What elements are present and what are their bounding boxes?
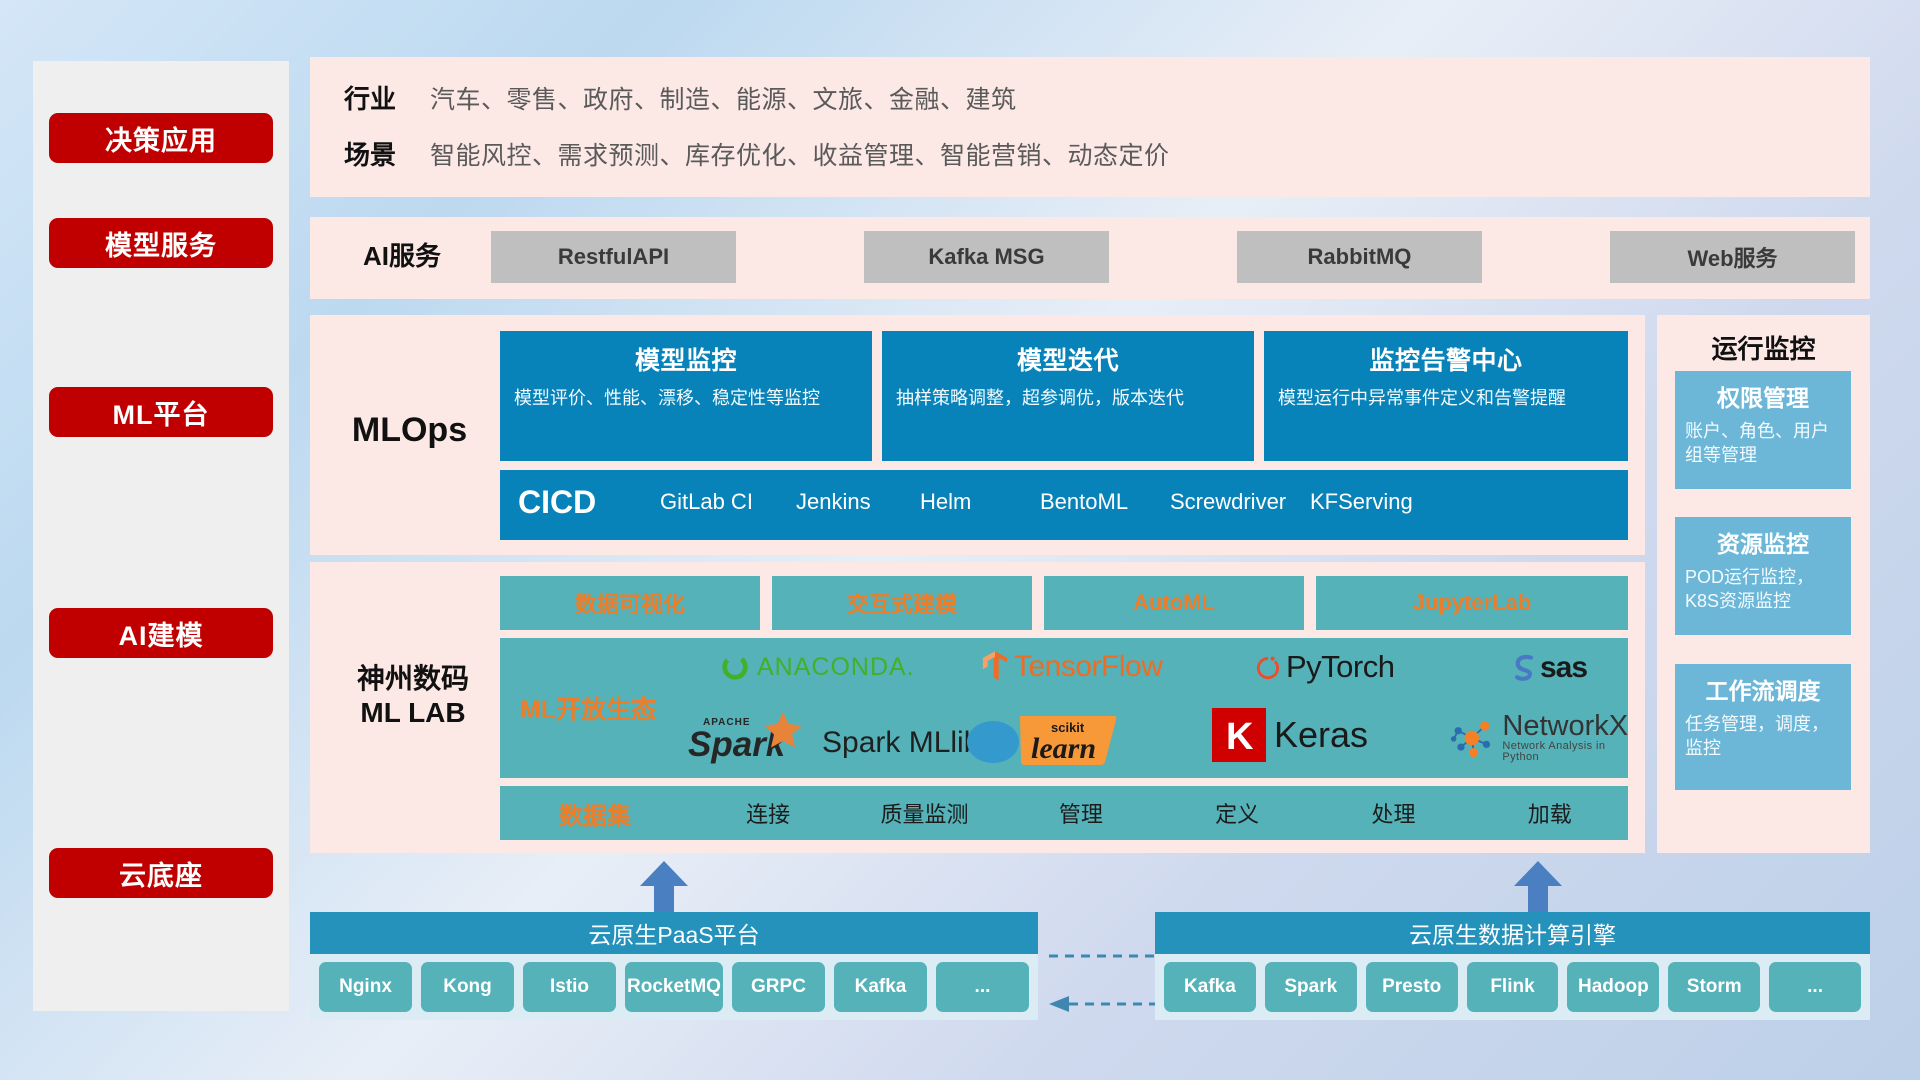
mlops-card-model-iteration[interactable]: 模型迭代 抽样策略调整，超参调优，版本迭代 — [882, 331, 1254, 461]
service-label: RestfulAPI — [558, 244, 669, 270]
industry-row: 行业 汽车、零售、政府、制造、能源、文旅、金融、建筑 — [310, 79, 1870, 116]
card-title: 模型监控 — [514, 341, 858, 377]
cicd-title: CICD — [518, 484, 596, 521]
cloud-paas-title: 云原生PaaS平台 — [310, 912, 1038, 954]
chip-kong[interactable]: Kong — [421, 962, 514, 1012]
svg-text:K: K — [1226, 716, 1254, 758]
arrow-up-paas-icon — [639, 861, 689, 913]
ops-card-resource-monitoring[interactable]: 资源监控 POD运行监控，K8S资源监控 — [1675, 517, 1851, 635]
tool-label: AutoML — [1133, 590, 1215, 616]
chip-grpc[interactable]: GRPC — [732, 962, 825, 1012]
service-label: RabbitMQ — [1308, 244, 1412, 270]
dataset-item-load[interactable]: 加载 — [1472, 797, 1628, 829]
logo-spark-mllib: APACHE Spark Spark MLlib — [686, 708, 980, 764]
logo-anaconda: ANACONDA. — [720, 652, 915, 682]
card-desc: 抽样策略调整，超参调优，版本迭代 — [896, 386, 1240, 412]
chip-istio[interactable]: Istio — [523, 962, 616, 1012]
ml-lab-label-en: ML LAB — [360, 697, 465, 728]
tool-label: 数据可视化 — [575, 587, 685, 619]
tool-box-data-visualization[interactable]: 数据可视化 — [500, 576, 760, 630]
ops-card-permission-management[interactable]: 权限管理 账户、角色、用户组等管理 — [1675, 371, 1851, 489]
card-desc: 任务管理，调度，监控 — [1685, 712, 1841, 761]
sidebar-item-label: ML平台 — [113, 393, 210, 432]
ai-service-label: AI服务 — [332, 241, 472, 273]
chip-nginx[interactable]: Nginx — [319, 962, 412, 1012]
cicd-bar: CICD GitLab CI Jenkins Helm BentoML Scre… — [500, 470, 1628, 540]
logo-text: ANACONDA. — [757, 653, 915, 682]
tool-box-jupyterlab[interactable]: JupyterLab — [1316, 576, 1628, 630]
tool-label: 交互式建模 — [847, 587, 957, 619]
scenario-key: 场景 — [310, 135, 430, 172]
sidebar-item-cloud-base[interactable]: 云底座 — [49, 848, 273, 898]
logo-text: PyTorch — [1286, 649, 1394, 685]
chip-kafka[interactable]: Kafka — [834, 962, 927, 1012]
ml-lab-panel: 神州数码 ML LAB 数据可视化 交互式建模 AutoML JupyterLa… — [310, 562, 1645, 853]
tool-label: JupyterLab — [1413, 590, 1532, 616]
service-label: Web服务 — [1687, 241, 1777, 273]
card-desc: 账户、角色、用户组等管理 — [1685, 419, 1841, 468]
tool-box-automl[interactable]: AutoML — [1044, 576, 1304, 630]
logo-sas: sas — [1510, 651, 1587, 685]
scikit-learn-icon: scikit learn — [965, 710, 1125, 768]
service-label: Kafka MSG — [928, 244, 1044, 270]
logo-networkx: NetworkX Network Analysis in Python — [1450, 712, 1633, 763]
sidebar-item-ai-modeling[interactable]: AI建模 — [49, 608, 273, 658]
cloud-compute-title: 云原生数据计算引擎 — [1155, 912, 1870, 954]
service-box-restfulapi[interactable]: RestfulAPI — [491, 231, 736, 283]
sidebar-item-label: AI建模 — [119, 614, 204, 653]
networkx-tagline: Network Analysis in Python — [1502, 741, 1632, 763]
tensorflow-icon — [980, 650, 1010, 684]
cloud-paas-chips: Nginx Kong Istio RocketMQ GRPC Kafka ... — [310, 954, 1038, 1020]
logo-pytorch: PyTorch — [1255, 649, 1394, 685]
card-title: 权限管理 — [1685, 379, 1841, 413]
cicd-item-kfserving[interactable]: KFServing — [1310, 488, 1415, 516]
dataset-item-quality[interactable]: 质量监测 — [846, 797, 1002, 829]
keras-icon: K — [1212, 708, 1266, 762]
chip-rocketmq[interactable]: RocketMQ — [625, 962, 723, 1012]
cicd-item-jenkins[interactable]: Jenkins — [796, 488, 901, 516]
arrow-up-compute-icon — [1513, 861, 1563, 913]
anaconda-icon — [720, 652, 750, 682]
cicd-item-helm[interactable]: Helm — [920, 488, 1025, 516]
chip-spark[interactable]: Spark — [1265, 962, 1357, 1012]
chip-presto[interactable]: Presto — [1366, 962, 1458, 1012]
mlops-card-alert-center[interactable]: 监控告警中心 模型运行中异常事件定义和告警提醒 — [1264, 331, 1628, 461]
logo-tensorflow: TensorFlow — [980, 650, 1162, 684]
ml-lab-label-cn: 神州数码 — [357, 663, 469, 694]
service-box-rabbitmq[interactable]: RabbitMQ — [1237, 231, 1482, 283]
sidebar-item-label: 云底座 — [119, 854, 203, 893]
card-desc: POD运行监控，K8S资源监控 — [1685, 565, 1841, 614]
card-desc: 模型运行中异常事件定义和告警提醒 — [1278, 386, 1614, 412]
sas-icon — [1510, 653, 1538, 683]
dataset-item-manage[interactable]: 管理 — [1003, 797, 1159, 829]
mlops-card-model-monitoring[interactable]: 模型监控 模型评价、性能、漂移、稳定性等监控 — [500, 331, 872, 461]
card-desc: 模型评价、性能、漂移、稳定性等监控 — [514, 386, 858, 412]
dataset-item-process[interactable]: 处理 — [1315, 797, 1471, 829]
ops-monitor-title: 运行监控 — [1657, 329, 1870, 366]
logo-scikit-learn: scikit learn — [965, 710, 1125, 773]
mlops-panel: MLOps 模型监控 模型评价、性能、漂移、稳定性等监控 模型迭代 抽样策略调整… — [310, 315, 1645, 555]
tool-box-interactive-modeling[interactable]: 交互式建模 — [772, 576, 1032, 630]
cicd-item-gitlab-ci[interactable]: GitLab CI — [660, 488, 765, 516]
cloud-paas-block: 云原生PaaS平台 Nginx Kong Istio RocketMQ GRPC… — [310, 912, 1038, 1020]
ml-lab-label: 神州数码 ML LAB — [328, 662, 498, 730]
cloud-compute-chips: Kafka Spark Presto Flink Hadoop Storm ..… — [1155, 954, 1870, 1020]
chip-kafka-compute[interactable]: Kafka — [1164, 962, 1256, 1012]
decision-applications-panel: 行业 汽车、零售、政府、制造、能源、文旅、金融、建筑 场景 智能风控、需求预测、… — [310, 57, 1870, 197]
card-title: 资源监控 — [1685, 525, 1841, 559]
scenario-row: 场景 智能风控、需求预测、库存优化、收益管理、智能营销、动态定价 — [310, 135, 1870, 172]
dataset-title: 数据集 — [500, 796, 690, 831]
dataset-item-connect[interactable]: 连接 — [690, 797, 846, 829]
industry-value: 汽车、零售、政府、制造、能源、文旅、金融、建筑 — [430, 80, 1017, 116]
ops-monitor-panel: 运行监控 权限管理 账户、角色、用户组等管理 资源监控 POD运行监控，K8S资… — [1657, 315, 1870, 853]
ml-open-ecosystem-box: ML开放生态 ANACONDA. TensorFlow PyTorch — [500, 638, 1628, 778]
card-title: 监控告警中心 — [1278, 341, 1614, 377]
logo-text: NetworkX — [1502, 712, 1632, 741]
sidebar-item-label: 决策应用 — [105, 119, 217, 158]
ops-card-workflow-scheduling[interactable]: 工作流调度 任务管理，调度，监控 — [1675, 664, 1851, 790]
cloud-compute-block: 云原生数据计算引擎 Kafka Spark Presto Flink Hadoo… — [1155, 912, 1870, 1020]
sidebar-item-ml-platform[interactable]: ML平台 — [49, 387, 273, 437]
logo-text: TensorFlow — [1014, 650, 1162, 684]
ai-service-panel: AI服务 RestfulAPI Kafka MSG RabbitMQ Web服务 — [310, 217, 1870, 299]
sidebar-item-decision-apps[interactable]: 决策应用 — [49, 113, 273, 163]
scenario-value: 智能风控、需求预测、库存优化、收益管理、智能营销、动态定价 — [430, 136, 1170, 172]
sidebar-item-label: 模型服务 — [105, 224, 217, 263]
sidebar-item-model-service[interactable]: 模型服务 — [49, 218, 273, 268]
chip-hadoop[interactable]: Hadoop — [1567, 962, 1659, 1012]
dataset-item-define[interactable]: 定义 — [1159, 797, 1315, 829]
cicd-item-bentoml[interactable]: BentoML — [1040, 488, 1145, 516]
svg-text:learn: learn — [1031, 732, 1096, 765]
networkx-icon — [1450, 714, 1497, 762]
industry-key: 行业 — [310, 79, 430, 116]
spark-icon: APACHE Spark — [686, 708, 816, 764]
chip-more-compute[interactable]: ... — [1769, 962, 1861, 1012]
card-title: 模型迭代 — [896, 341, 1240, 377]
mlops-label: MLOps — [332, 410, 487, 451]
ecosystem-label: ML开放生态 — [520, 690, 656, 726]
logo-keras: K Keras — [1212, 708, 1368, 762]
dataset-bar: 数据集 连接 质量监测 管理 定义 处理 加载 — [500, 786, 1628, 840]
layer-sidebar: 决策应用 模型服务 ML平台 AI建模 云底座 — [33, 61, 289, 1011]
service-box-web-service[interactable]: Web服务 — [1610, 231, 1855, 283]
chip-more[interactable]: ... — [936, 962, 1029, 1012]
card-title: 工作流调度 — [1685, 672, 1841, 706]
chip-flink[interactable]: Flink — [1467, 962, 1559, 1012]
logo-text: Keras — [1274, 714, 1368, 756]
logo-text: Spark MLlib — [822, 726, 980, 760]
chip-storm[interactable]: Storm — [1668, 962, 1760, 1012]
service-box-kafka-msg[interactable]: Kafka MSG — [864, 231, 1109, 283]
logo-text: sas — [1540, 651, 1587, 685]
pytorch-icon — [1255, 652, 1281, 682]
cicd-item-screwdriver[interactable]: Screwdriver — [1170, 488, 1275, 516]
